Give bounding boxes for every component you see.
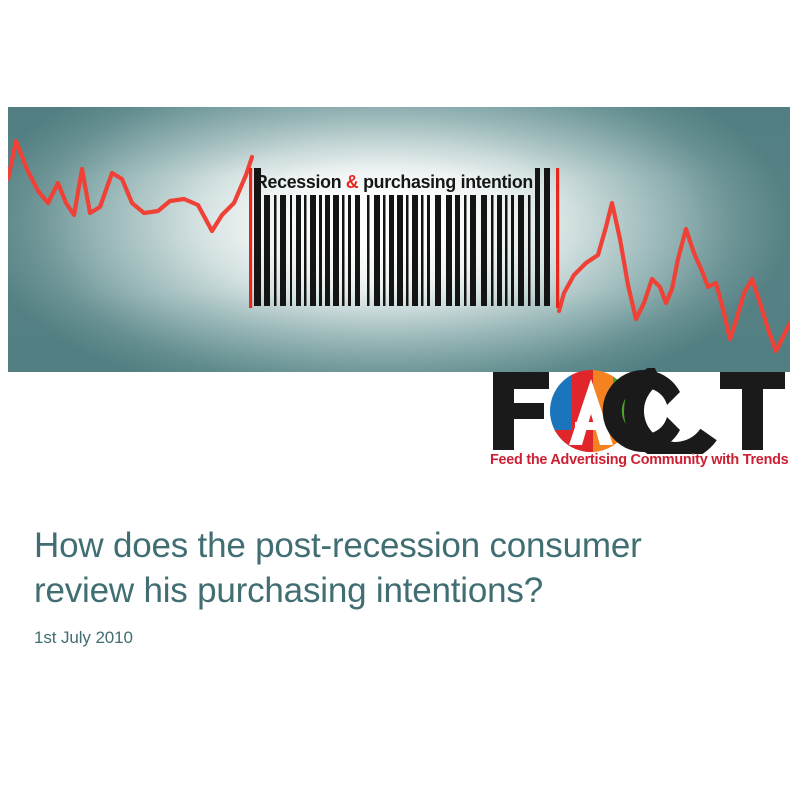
page-title-line-2: review his purchasing intentions? [34, 568, 774, 613]
page-title: How does the post-recession consumer rev… [34, 523, 774, 613]
trend-line-right-segment [559, 203, 790, 351]
title-slide: Recession & purchasing intention [0, 0, 800, 800]
hero-banner: Recession & purchasing intention [8, 107, 790, 372]
barcode-label-ampersand: & [346, 171, 359, 192]
page-title-line-1: How does the post-recession consumer [34, 523, 774, 568]
barcode-guard-right [556, 168, 559, 308]
barcode-graphic: Recession & purchasing intention [243, 168, 563, 308]
presentation-date: 1st July 2010 [34, 613, 774, 648]
barcode-guard-left [249, 168, 252, 308]
barcode-label-part-2: purchasing intention [358, 171, 533, 192]
trend-line-left-segment [8, 141, 252, 231]
logo-letter-t [720, 372, 785, 450]
fact-wordmark [487, 368, 787, 454]
title-block: How does the post-recession consumer rev… [34, 523, 774, 648]
barcode-label-part-1: Recession [255, 171, 346, 192]
fact-logo: Feed the Advertising Community with Tren… [487, 368, 787, 480]
fact-tagline: Feed the Advertising Community with Tren… [490, 452, 786, 468]
logo-letter-f [493, 372, 549, 450]
barcode-label-text: Recession & purchasing intention [255, 168, 543, 195]
